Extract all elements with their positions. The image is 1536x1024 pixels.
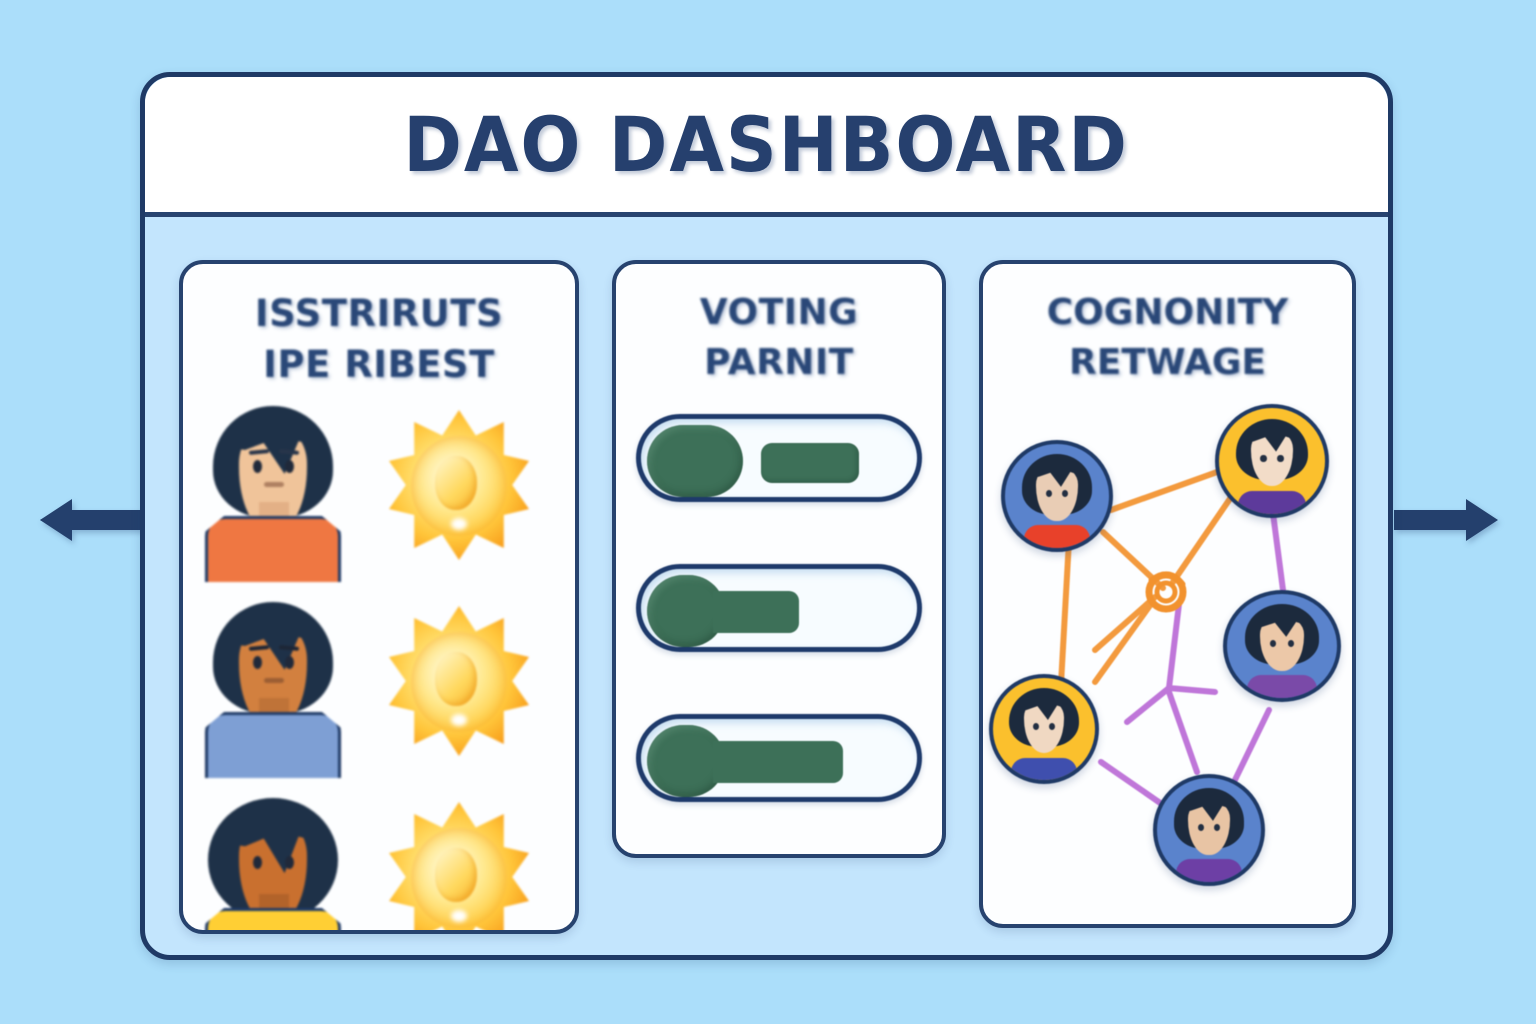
panel-contributors-heading-line1: ISSTRIRUTS <box>193 288 565 339</box>
panel-contributors-heading-line2: IPE RIBEST <box>193 339 565 390</box>
title-bar: DAO DASHBOARD <box>145 77 1388 217</box>
avatar[interactable] <box>1153 774 1265 886</box>
vote-progress-bar[interactable] <box>636 564 922 652</box>
nav-prev-arrow-icon[interactable] <box>36 485 146 555</box>
panel-contributors[interactable]: ISSTRIRUTS IPE RIBEST <box>179 260 579 934</box>
avatar[interactable] <box>989 674 1099 784</box>
dashboard-card: DAO DASHBOARD ISSTRIRUTS IPE RIBEST <box>140 72 1393 960</box>
list-item[interactable] <box>183 402 575 598</box>
panel-community-heading: COGNONITY RETWAGE <box>983 264 1352 387</box>
panel-voting[interactable]: VOTING PARNIT <box>612 260 946 858</box>
avatar[interactable] <box>1215 404 1329 518</box>
list-item[interactable] <box>183 794 575 934</box>
community-network-graph[interactable] <box>983 392 1356 928</box>
panel-voting-heading: VOTING PARNIT <box>616 264 942 387</box>
panel-voting-heading-line1: VOTING <box>626 288 932 338</box>
avatar <box>205 794 341 934</box>
page-title: DAO DASHBOARD <box>404 100 1130 189</box>
list-item[interactable] <box>183 598 575 794</box>
panel-community[interactable]: COGNONITY RETWAGE <box>979 260 1356 928</box>
voting-bars <box>616 414 942 802</box>
avatar <box>205 598 341 778</box>
panel-voting-heading-line2: PARNIT <box>626 338 932 388</box>
gold-badge-icon <box>389 410 529 560</box>
panel-community-heading-line1: COGNONITY <box>993 288 1342 338</box>
gold-badge-icon <box>389 606 529 756</box>
avatar[interactable] <box>1001 440 1113 552</box>
avatar <box>205 402 341 582</box>
panel-row: ISSTRIRUTS IPE RIBEST <box>179 260 1364 934</box>
vote-progress-bar[interactable] <box>636 414 922 502</box>
avatar[interactable] <box>1223 590 1341 702</box>
nav-next-arrow-icon[interactable] <box>1392 485 1502 555</box>
vote-progress-bar[interactable] <box>636 714 922 802</box>
panel-contributors-heading: ISSTRIRUTS IPE RIBEST <box>183 264 575 390</box>
hub-knot-icon <box>1149 574 1183 609</box>
panel-community-heading-line2: RETWAGE <box>993 338 1342 388</box>
gold-badge-icon <box>389 802 529 934</box>
contributors-list <box>183 402 575 934</box>
